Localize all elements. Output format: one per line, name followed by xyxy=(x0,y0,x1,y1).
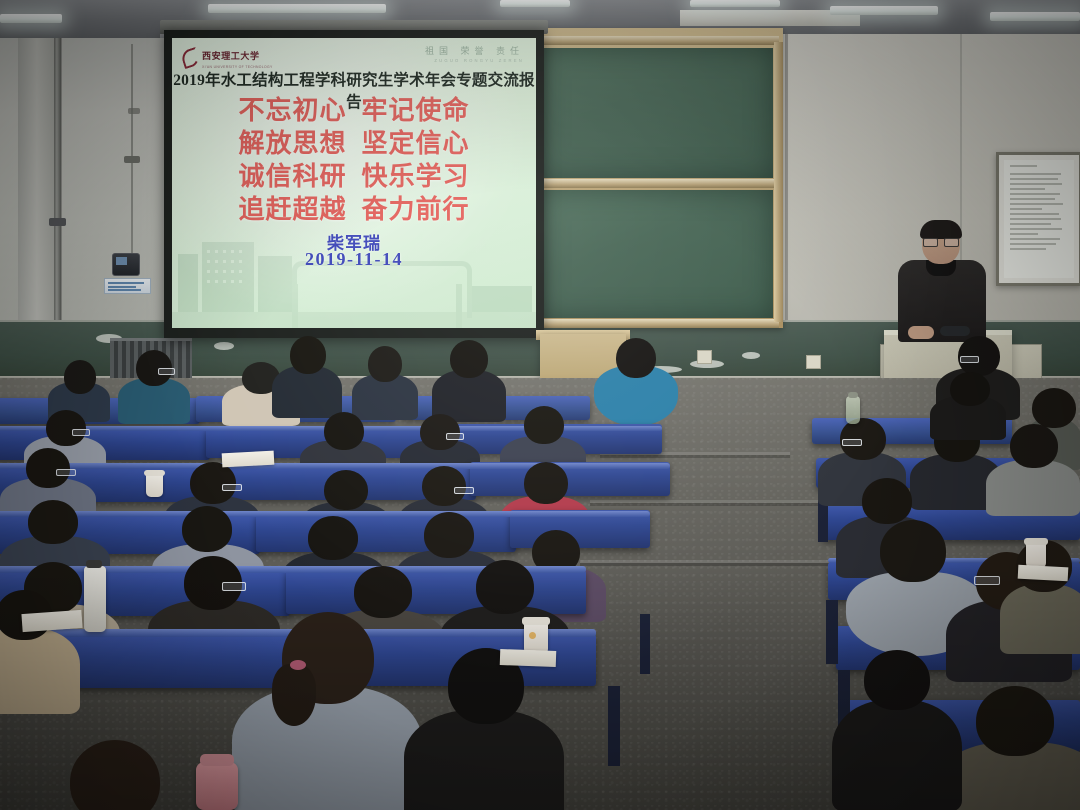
slide-surface: 西安理工大学 XI'AN UNIVERSITY OF TECHNOLOGY 祖国… xyxy=(172,38,536,328)
student-f1-body xyxy=(232,686,422,810)
student-r7-head xyxy=(880,520,946,582)
blackboard xyxy=(533,28,783,328)
student-a5-head xyxy=(368,346,402,382)
floor-step-3-shadow xyxy=(580,563,830,566)
student-e3-head xyxy=(354,566,412,618)
wall-bracket xyxy=(128,108,140,114)
student-r1-glasses xyxy=(960,356,979,363)
wall-socket-left[interactable] xyxy=(697,350,712,364)
student-c4-head xyxy=(422,466,466,506)
speaker-glasses xyxy=(923,238,959,245)
student-c3-head xyxy=(324,470,368,510)
student-b2-head xyxy=(324,412,364,450)
wall-socket-right[interactable] xyxy=(806,355,821,369)
ceiling-light-5 xyxy=(830,6,938,15)
student-f3-left xyxy=(40,740,190,810)
cup-logo xyxy=(529,632,536,639)
student-d3-head xyxy=(308,516,358,560)
student-c1-head xyxy=(26,448,70,488)
university-logo: 西安理工大学 XI'AN UNIVERSITY OF TECHNOLOGY xyxy=(182,46,273,69)
student-center-aisle xyxy=(594,338,678,424)
card-reader-sign xyxy=(104,278,151,294)
student-a4 xyxy=(272,336,342,414)
logo-mark-icon xyxy=(180,46,202,68)
notebook-1 xyxy=(222,451,275,468)
student-b1-head xyxy=(46,410,86,446)
glass-bottle-podium xyxy=(846,396,860,424)
wall-seam-right xyxy=(785,34,788,334)
sign-line-2 xyxy=(108,286,136,288)
notebook-4 xyxy=(1018,565,1069,582)
student-a1-head xyxy=(64,360,96,394)
student-a2 xyxy=(118,350,190,420)
student-front-right-head xyxy=(950,372,990,406)
ceiling-light-1 xyxy=(0,14,62,23)
student-f1-ponytail xyxy=(232,612,422,810)
sign-line-3 xyxy=(108,289,141,291)
cup-lid-1 xyxy=(144,470,165,476)
poster-content xyxy=(1004,160,1074,278)
student-r10-head xyxy=(976,686,1054,756)
motto-pinyin: ZUGUO RONGYU ZEREN xyxy=(425,58,524,63)
student-r5-body xyxy=(986,460,1080,516)
hanging-wire xyxy=(131,44,133,260)
student-e2-glasses xyxy=(222,582,246,591)
student-f2-dark xyxy=(404,648,564,810)
blackboard-rail-top xyxy=(537,36,779,45)
student-a6 xyxy=(432,340,506,420)
slide-motto: 祖国 荣誉 责任 ZUGUO RONGYU ZEREN xyxy=(425,47,524,63)
verse-line-2: 解放思想 坚定信心 xyxy=(172,127,536,160)
campus-gate-leg-left xyxy=(292,284,298,328)
student-f2-body xyxy=(404,710,564,810)
student-c2-glasses xyxy=(222,484,242,491)
student-a5 xyxy=(352,346,418,418)
blackboard-panel-upper xyxy=(541,48,773,178)
student-b1-glasses xyxy=(72,429,90,436)
floor-step-1-shadow xyxy=(600,455,790,458)
student-r5-head xyxy=(1010,424,1058,468)
student-c2-head xyxy=(190,462,236,504)
student-b3-glasses xyxy=(446,433,464,440)
pipe-clamp xyxy=(49,218,66,226)
pink-bottle-cap xyxy=(200,754,234,766)
ceiling-light-4 xyxy=(690,0,780,7)
student-r6-head xyxy=(862,478,912,524)
student-c4-glasses xyxy=(454,487,474,494)
cup-lid-3 xyxy=(1024,538,1048,545)
student-e4-head xyxy=(476,560,534,614)
campus-gate-leg-right xyxy=(456,284,462,328)
blackboard-panel-lower xyxy=(541,190,773,318)
speaker-hand xyxy=(908,326,934,339)
floor-step-2-shadow xyxy=(590,503,820,506)
verse-line-1: 不忘初心 牢记使命 xyxy=(172,94,536,127)
student-f3-head xyxy=(70,740,160,810)
student-r2-head xyxy=(1032,388,1076,428)
student-a2-glasses xyxy=(158,368,175,375)
student-f1-ponytail-hair xyxy=(272,664,316,726)
student-b4-head xyxy=(524,406,564,444)
student-r3-glasses xyxy=(842,439,862,446)
student-d1-head xyxy=(28,500,78,544)
paper-cup-1 xyxy=(146,474,163,497)
blackboard-rail-bottom xyxy=(537,319,779,328)
slide-date: 2019-11-14 xyxy=(172,249,536,270)
university-name: 西安理工大学 xyxy=(202,51,260,61)
glass-bottle-cap xyxy=(848,392,858,398)
notebook-3 xyxy=(500,649,557,667)
student-f4-edge xyxy=(0,590,80,710)
student-r9-body xyxy=(1000,584,1080,654)
student-front-right-seated xyxy=(930,372,1006,434)
paper-cup-3 xyxy=(1026,542,1046,568)
ceiling-light-2 xyxy=(208,4,386,13)
wall-hook xyxy=(124,156,140,163)
student-c1-glasses xyxy=(56,469,76,476)
card-reader-device[interactable] xyxy=(112,253,140,276)
speaker-person xyxy=(896,222,988,340)
desk-row-e-leg xyxy=(640,614,650,674)
student-r8-glasses-icon xyxy=(974,576,1000,585)
student-b3-head xyxy=(420,414,460,450)
blackboard-rail-middle xyxy=(537,179,779,188)
student-r11-head xyxy=(864,650,930,710)
speaker-hair xyxy=(920,220,962,239)
thermos-bottle-white xyxy=(84,566,106,632)
student-c5-head xyxy=(524,462,568,504)
wall-scuff-5 xyxy=(742,352,760,359)
student-f4-body xyxy=(0,628,80,714)
projection-screen: 西安理工大学 XI'AN UNIVERSITY OF TECHNOLOGY 祖国… xyxy=(164,30,544,338)
verse-line-3: 诚信科研 快乐学习 xyxy=(172,160,536,193)
microphone xyxy=(940,326,970,336)
blackboard-side-edge xyxy=(774,42,783,322)
wall-poster xyxy=(996,152,1080,286)
campus-building-4 xyxy=(472,286,532,312)
student-a6-head xyxy=(450,340,488,378)
thermos-cap xyxy=(86,560,102,568)
lecture-hall-photo: 西安理工大学 XI'AN UNIVERSITY OF TECHNOLOGY 祖国… xyxy=(0,0,1080,810)
student-r11-dark-front xyxy=(832,650,962,810)
student-a1 xyxy=(48,360,110,416)
student-f1-hair-tie xyxy=(290,660,306,670)
student-r11-body xyxy=(832,700,962,810)
cup-lid-2 xyxy=(522,617,550,625)
ceiling-light-3 xyxy=(500,0,570,7)
student-d2-head xyxy=(182,506,232,552)
sign-line-1 xyxy=(108,282,144,284)
student-a4-head xyxy=(290,336,326,374)
student-d4-head xyxy=(424,512,474,558)
desk-row-f-leg xyxy=(608,686,620,766)
wall-scuff-3 xyxy=(214,342,234,350)
card-reader-screen xyxy=(116,257,127,265)
ceiling-light-6 xyxy=(990,12,1080,21)
water-bottle-pink xyxy=(196,762,238,810)
motto-chinese: 祖国 荣誉 责任 xyxy=(425,47,524,56)
slide-verse-block: 不忘初心 牢记使命 解放思想 坚定信心 诚信科研 快乐学习 追赶超越 奋力前行 xyxy=(172,94,536,226)
verse-line-4: 追赶超越 奋力前行 xyxy=(172,193,536,226)
student-center-head xyxy=(616,338,656,378)
